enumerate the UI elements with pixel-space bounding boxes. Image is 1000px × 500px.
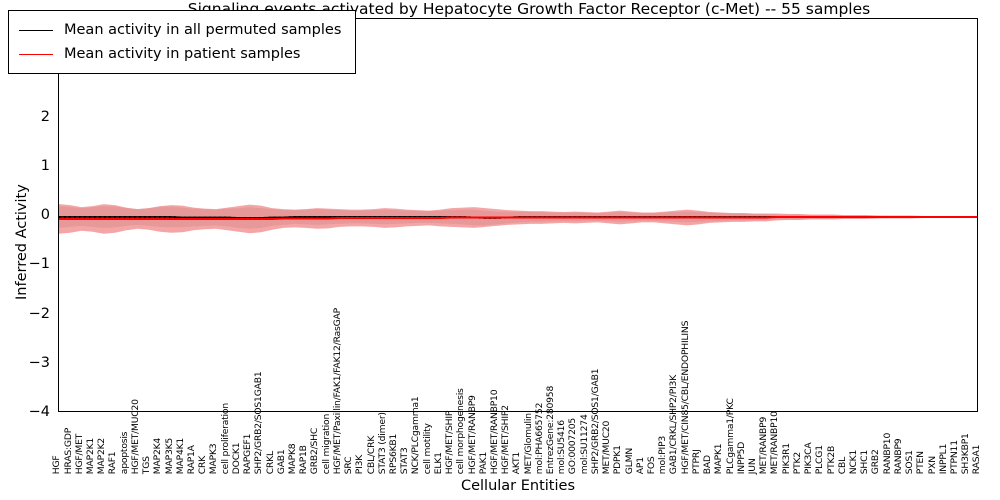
x-tick-label: ELK1 bbox=[434, 452, 443, 474]
x-tick-label: HRAS:GDP bbox=[63, 428, 72, 474]
x-tick-label: SRC bbox=[344, 456, 353, 474]
x-tick-label: PDPK1 bbox=[613, 445, 622, 474]
x-tick-label: RAP1A bbox=[187, 445, 196, 474]
x-tick-label: INPP5D bbox=[737, 442, 746, 474]
x-tick-label: MET/Glomulin bbox=[523, 413, 532, 474]
x-tick-label: AP1 bbox=[636, 457, 645, 474]
x-tick-label: PTK2B bbox=[826, 446, 835, 474]
figure: Signaling events activated by Hepatocyte… bbox=[0, 0, 1000, 500]
x-tick-label: RAP1B bbox=[299, 445, 308, 474]
y-tick-label: −2 bbox=[10, 307, 50, 322]
y-tick-mark bbox=[58, 166, 59, 167]
x-tick-label: cell proliferation bbox=[220, 403, 229, 474]
x-tick-label: PTK2 bbox=[793, 452, 802, 474]
x-tick-label: RANBP9 bbox=[894, 438, 903, 474]
x-tick-label: mol:SU5416 bbox=[557, 420, 566, 474]
x-tick-label: RAF1 bbox=[108, 451, 117, 474]
x-tick-label: TGS bbox=[142, 456, 151, 474]
legend-item: Mean activity in all permuted samples bbox=[19, 18, 341, 42]
x-tick-label: NCK1 bbox=[849, 450, 858, 474]
x-tick-label: CBL/CRK bbox=[366, 436, 375, 474]
x-tick-label: MAPK3 bbox=[209, 443, 218, 474]
legend-line-patient bbox=[19, 54, 53, 55]
x-tick-label: HGF/MET/SHIP2 bbox=[501, 405, 510, 474]
x-tick-label: INPPL1 bbox=[939, 444, 948, 474]
x-tick-label: BAD bbox=[703, 455, 712, 474]
x-tick-label: STAT3 bbox=[400, 447, 409, 474]
x-tick-label: AKT1 bbox=[512, 452, 521, 474]
x-axis-label: Cellular Entities bbox=[58, 478, 978, 494]
x-tick-label: MAP2K4 bbox=[153, 438, 162, 474]
x-tick-label: apoptosis bbox=[120, 432, 129, 474]
x-tick-label: RANBP10 bbox=[882, 433, 891, 474]
x-tick-label: RPS6KB1 bbox=[389, 434, 398, 474]
x-tick-label: HGF/MET/RANBP10 bbox=[490, 389, 499, 474]
chart-canvas bbox=[59, 19, 978, 412]
x-tick-label: PLCgamma1/PKC bbox=[725, 398, 734, 474]
legend: Mean activity in all permuted samples Me… bbox=[8, 10, 356, 74]
x-tick-label: MAP2K2 bbox=[97, 438, 106, 474]
x-tick-label: CRK bbox=[198, 456, 207, 474]
legend-label-permuted: Mean activity in all permuted samples bbox=[64, 22, 341, 38]
x-tick-label: cell migration bbox=[321, 414, 330, 474]
x-tick-label: SH3KBP1 bbox=[961, 433, 970, 474]
x-tick-label: JUN bbox=[748, 458, 757, 474]
x-tick-label: MET/RANBP9 bbox=[759, 417, 768, 474]
y-tick-label: −3 bbox=[10, 356, 50, 371]
x-tick-label: GRB2/SHC bbox=[310, 428, 319, 474]
x-tick-label: RASA1 bbox=[972, 445, 981, 474]
x-tick-label: GO:0007205 bbox=[568, 418, 577, 474]
x-tick-label: MAP4K1 bbox=[176, 438, 185, 474]
x-tick-label: cell motility bbox=[422, 423, 431, 474]
x-tick-label: CRKL bbox=[265, 451, 274, 474]
x-tick-label: PXN bbox=[927, 456, 936, 474]
x-tick-label: cell morphogenesis bbox=[456, 388, 465, 474]
y-tick-mark bbox=[58, 215, 59, 216]
x-tick-label: MET/MUC20 bbox=[602, 421, 611, 474]
x-tick-label: MAPK8 bbox=[288, 443, 297, 474]
x-tick-label: SOS1 bbox=[905, 450, 914, 474]
x-tick-label: MAP3K5 bbox=[164, 438, 173, 474]
x-tick-label: HGF/MET/MUC20 bbox=[131, 399, 140, 474]
x-tick-label: HGF/MET/Paxillin/FAK1/FAK12/RasGAP bbox=[333, 308, 342, 474]
x-tick-label: mol:PIP3 bbox=[658, 436, 667, 474]
x-tick-label: MET/RANBP10 bbox=[770, 411, 779, 474]
x-tick-label: HGF/MET/RANBP9 bbox=[467, 395, 476, 474]
y-tick-mark bbox=[58, 363, 59, 364]
x-tick-labels: HGFHRAS:GDPHGF/METMAP2K1MAP2K2RAF1apopto… bbox=[58, 414, 978, 474]
x-tick-label: HGF/MET bbox=[75, 434, 84, 474]
x-tick-label: DOCK1 bbox=[232, 442, 241, 474]
x-tick-label: PAK1 bbox=[479, 452, 488, 474]
x-tick-label: PTEN bbox=[916, 451, 925, 474]
x-tick-label: SHP2/GRB2/SOS1GAB1 bbox=[254, 371, 263, 474]
y-tick-label: −4 bbox=[10, 405, 50, 420]
x-tick-label: MAPK1 bbox=[714, 443, 723, 474]
x-tick-label: GLMN bbox=[624, 448, 633, 474]
legend-label-patient: Mean activity in patient samples bbox=[64, 46, 300, 62]
y-tick-label: 2 bbox=[10, 110, 50, 125]
y-axis-label: Inferred Activity bbox=[14, 184, 30, 300]
x-tick-label: CBL bbox=[838, 457, 847, 474]
legend-item: Mean activity in patient samples bbox=[19, 42, 341, 66]
x-tick-label: HGF bbox=[52, 455, 61, 474]
x-tick-label: GRB2 bbox=[871, 449, 880, 474]
x-tick-label: HGF/MET/CIN85/CBL/ENDOPHILINS bbox=[680, 321, 689, 474]
x-tick-label: PLCG1 bbox=[815, 445, 824, 474]
x-tick-label: GAB1/CRKL/SHP2/PI3K bbox=[669, 375, 678, 474]
x-tick-label: MAP2K1 bbox=[86, 438, 95, 474]
y-tick-mark bbox=[58, 314, 59, 315]
x-tick-label: RAPGEF1 bbox=[243, 434, 252, 475]
x-tick-label: EntrezGene:280958 bbox=[546, 386, 555, 474]
x-tick-label: mol:SU11274 bbox=[580, 414, 589, 474]
plot-area bbox=[58, 18, 978, 412]
x-tick-label: SHP2/GRB2/SOS1/GAB1 bbox=[591, 368, 600, 474]
x-tick-label: PTPRJ bbox=[692, 449, 701, 474]
x-tick-label: PIK3R1 bbox=[781, 443, 790, 474]
y-tick-label: 0 bbox=[10, 208, 50, 223]
y-tick-label: −1 bbox=[10, 257, 50, 272]
x-tick-label: HGF/MET/SHIP bbox=[445, 411, 454, 474]
x-tick-label: PI3K bbox=[355, 455, 364, 474]
x-tick-label: PTPN11 bbox=[950, 440, 959, 474]
y-tick-mark bbox=[58, 117, 59, 118]
x-tick-label: NCK/PLCgamma1 bbox=[411, 396, 420, 474]
legend-line-permuted bbox=[19, 30, 53, 31]
x-tick-label: PIK3CA bbox=[804, 442, 813, 474]
x-tick-label: mol:PHA665752 bbox=[535, 403, 544, 474]
y-tick-label: 1 bbox=[10, 159, 50, 174]
x-tick-label: STAT3 (dimer) bbox=[378, 412, 387, 474]
y-tick-mark bbox=[58, 265, 59, 266]
x-tick-label: FOS bbox=[647, 456, 656, 474]
x-tick-label: GAB1 bbox=[277, 449, 286, 474]
x-tick-label: SHC1 bbox=[860, 450, 869, 474]
